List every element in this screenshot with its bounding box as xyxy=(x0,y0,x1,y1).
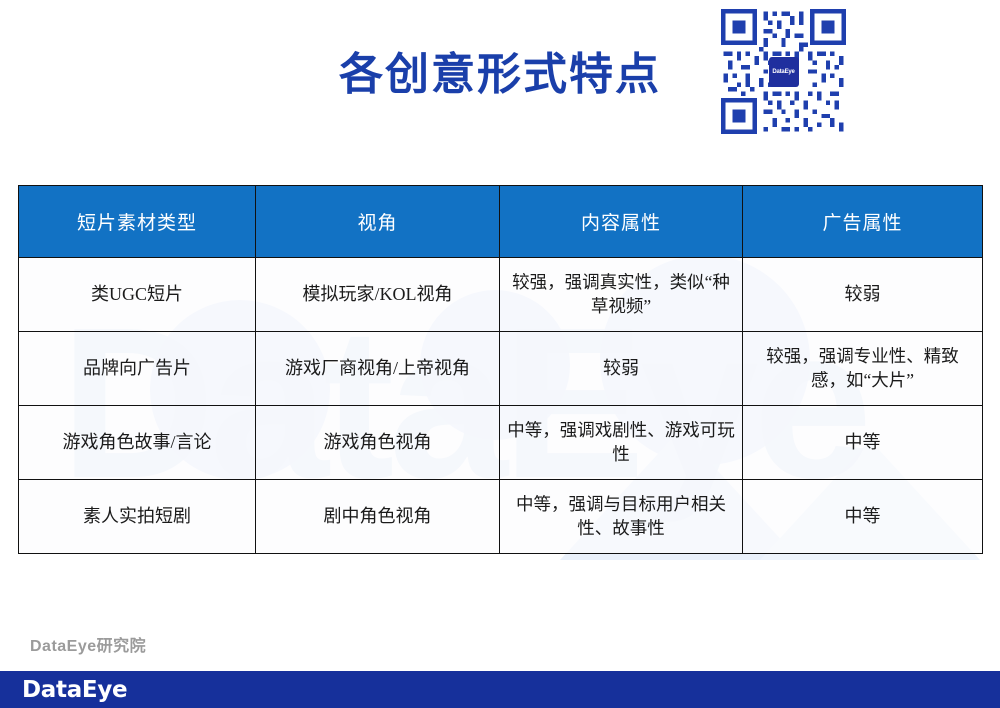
footer-source-note: DataEye研究院 xyxy=(30,632,146,656)
cell-ad-attr: 较弱 xyxy=(743,258,983,332)
feature-table-wrapper: 短片素材类型 视角 内容属性 广告属性 类UGC短片 模拟玩家/KOL视角 较强… xyxy=(18,185,982,554)
page-title: 各创意形式特点 xyxy=(0,38,1000,102)
column-header-content-attr: 内容属性 xyxy=(500,186,743,258)
cell-perspective: 游戏厂商视角/上帝视角 xyxy=(256,332,500,406)
table-header-row: 短片素材类型 视角 内容属性 广告属性 xyxy=(19,186,983,258)
table-row: 类UGC短片 模拟玩家/KOL视角 较强，强调真实性，类似“种草视频” 较弱 xyxy=(19,258,983,332)
cell-perspective: 剧中角色视角 xyxy=(256,480,500,554)
cell-ad-attr: 中等 xyxy=(743,406,983,480)
table-row: 品牌向广告片 游戏厂商视角/上帝视角 较弱 较强，强调专业性、精致感，如“大片” xyxy=(19,332,983,406)
cell-content-attr: 中等，强调戏剧性、游戏可玩性 xyxy=(500,406,743,480)
cell-type: 素人实拍短剧 xyxy=(19,480,256,554)
feature-table: 短片素材类型 视角 内容属性 广告属性 类UGC短片 模拟玩家/KOL视角 较强… xyxy=(18,185,983,554)
cell-perspective: 模拟玩家/KOL视角 xyxy=(256,258,500,332)
dataeye-logo: DataEye xyxy=(22,677,127,703)
qr-code-icon[interactable]: DataEye xyxy=(719,7,848,136)
cell-type: 类UGC短片 xyxy=(19,258,256,332)
cell-type: 品牌向广告片 xyxy=(19,332,256,406)
column-header-perspective: 视角 xyxy=(256,186,500,258)
cell-content-attr: 较强，强调真实性，类似“种草视频” xyxy=(500,258,743,332)
bottom-brand-bar: DataEye xyxy=(0,671,1000,708)
slide-root: DataEye 各创意形式特点 xyxy=(0,0,1000,708)
cell-perspective: 游戏角色视角 xyxy=(256,406,500,480)
qr-center-logo: DataEye xyxy=(769,57,799,87)
cell-type: 游戏角色故事/言论 xyxy=(19,406,256,480)
table-row: 游戏角色故事/言论 游戏角色视角 中等，强调戏剧性、游戏可玩性 中等 xyxy=(19,406,983,480)
cell-content-attr: 较弱 xyxy=(500,332,743,406)
table-row: 素人实拍短剧 剧中角色视角 中等，强调与目标用户相关性、故事性 中等 xyxy=(19,480,983,554)
cell-ad-attr: 较强，强调专业性、精致感，如“大片” xyxy=(743,332,983,406)
cell-content-attr: 中等，强调与目标用户相关性、故事性 xyxy=(500,480,743,554)
column-header-type: 短片素材类型 xyxy=(19,186,256,258)
cell-ad-attr: 中等 xyxy=(743,480,983,554)
column-header-ad-attr: 广告属性 xyxy=(743,186,983,258)
